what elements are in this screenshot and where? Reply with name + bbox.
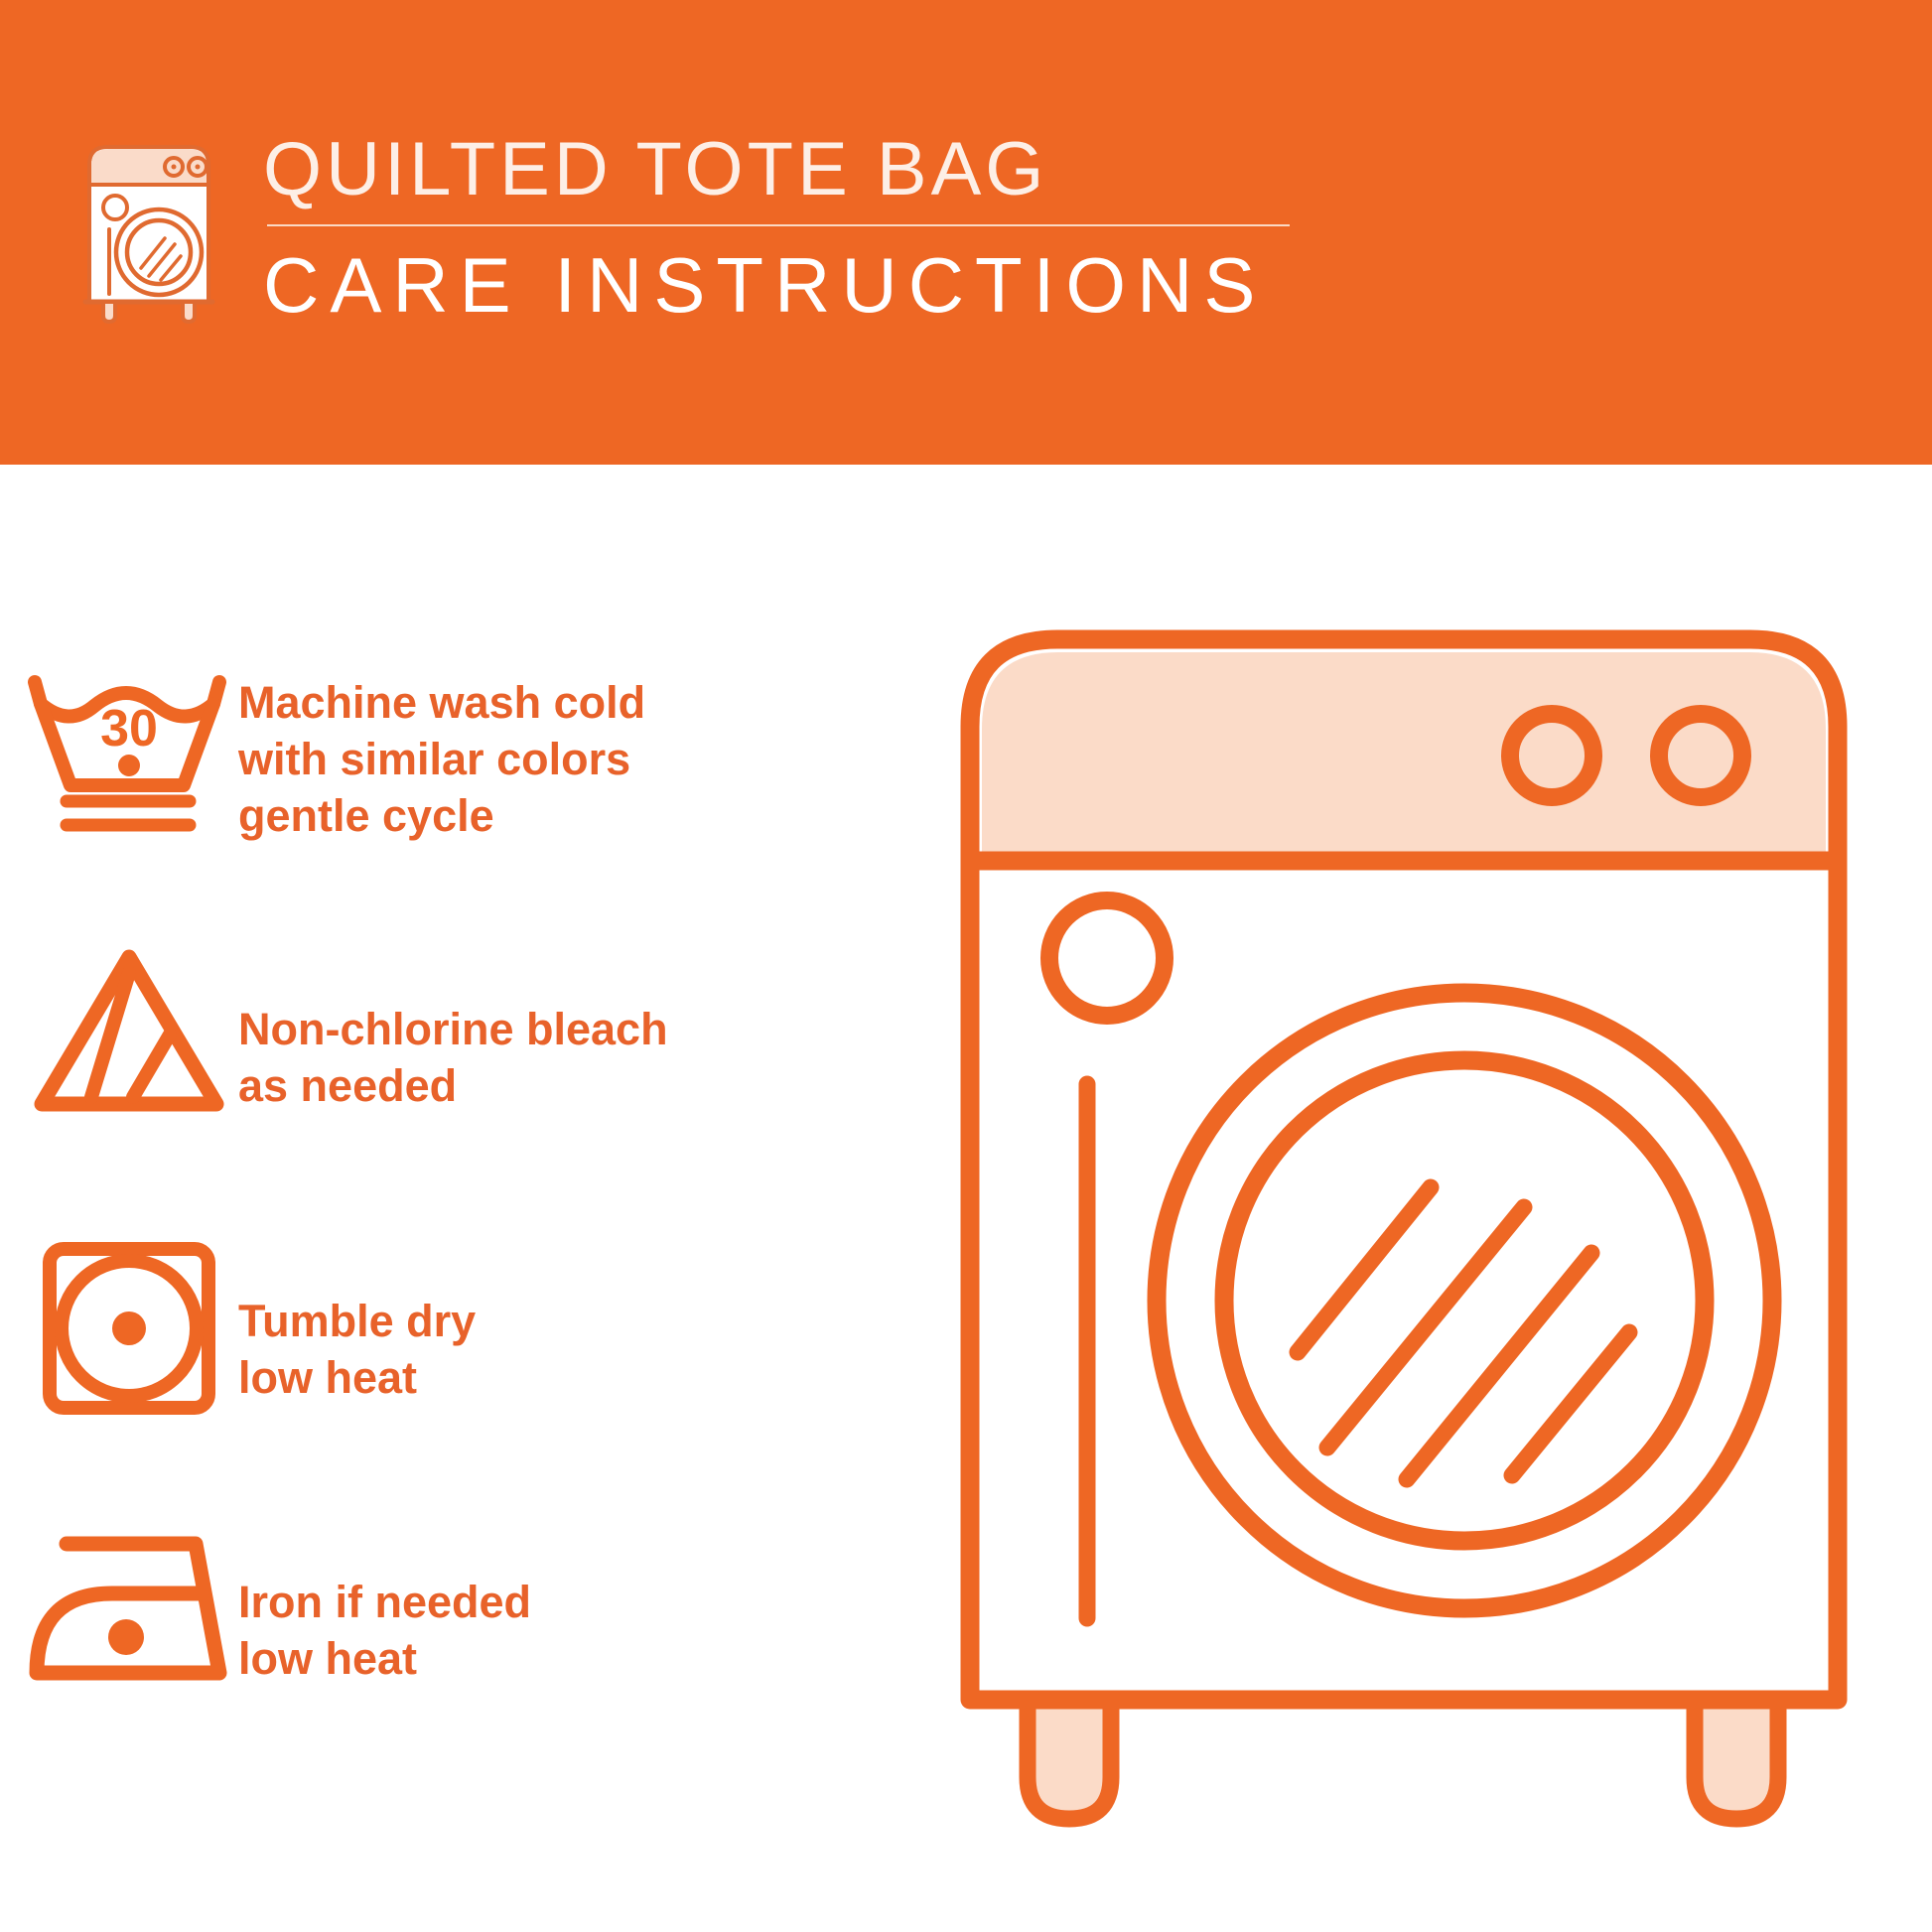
care-instructions-list: 30 Machine wash cold with similar colors… <box>0 465 953 1932</box>
machine-leg-right <box>1695 1698 1778 1819</box>
care-row-machine-wash: 30 Machine wash cold with similar colors… <box>0 668 953 844</box>
care-row-iron: Iron if needed low heat <box>0 1522 953 1691</box>
machine-knob-right <box>1659 714 1742 797</box>
iron-low-heat-icon <box>0 1522 238 1691</box>
care-line: Iron if needed <box>238 1574 531 1630</box>
wash-temperature-value: 30 <box>100 700 158 758</box>
care-line: Tumble dry <box>238 1293 476 1349</box>
washing-machine-icon <box>79 135 218 324</box>
page-title: QUILTED TOTE BAG <box>263 127 1290 212</box>
page-subtitle: CARE INSTRUCTIONS <box>263 242 1290 328</box>
care-text-machine-wash: Machine wash cold with similar colors ge… <box>238 668 645 844</box>
machine-leg-left <box>1028 1698 1111 1819</box>
header-title-block: QUILTED TOTE BAG CARE INSTRUCTIONS <box>263 127 1290 328</box>
tumble-dry-low-heat-icon <box>0 1239 238 1418</box>
care-line: Non-chlorine bleach <box>238 1001 668 1057</box>
care-line: gentle cycle <box>238 787 645 844</box>
non-chlorine-bleach-triangle-icon <box>0 943 238 1122</box>
care-line: low heat <box>238 1630 531 1687</box>
care-line: with similar colors <box>238 731 645 787</box>
care-row-bleach: Non-chlorine bleach as needed <box>0 943 953 1122</box>
care-text-iron: Iron if needed low heat <box>238 1522 531 1687</box>
machine-wash-30-gentle-icon: 30 <box>0 668 238 842</box>
care-line: Machine wash cold <box>238 674 645 731</box>
title-divider <box>267 224 1290 226</box>
machine-knob-left <box>1510 714 1593 797</box>
care-row-tumble-dry: Tumble dry low heat <box>0 1239 953 1418</box>
washing-machine-illustration <box>948 616 1871 1866</box>
care-line: as needed <box>238 1057 668 1114</box>
header-banner: QUILTED TOTE BAG CARE INSTRUCTIONS <box>0 0 1932 465</box>
care-line: low heat <box>238 1349 476 1406</box>
care-text-bleach: Non-chlorine bleach as needed <box>238 943 668 1114</box>
care-text-tumble-dry: Tumble dry low heat <box>238 1239 476 1406</box>
header-content: QUILTED TOTE BAG CARE INSTRUCTIONS <box>79 127 1290 328</box>
